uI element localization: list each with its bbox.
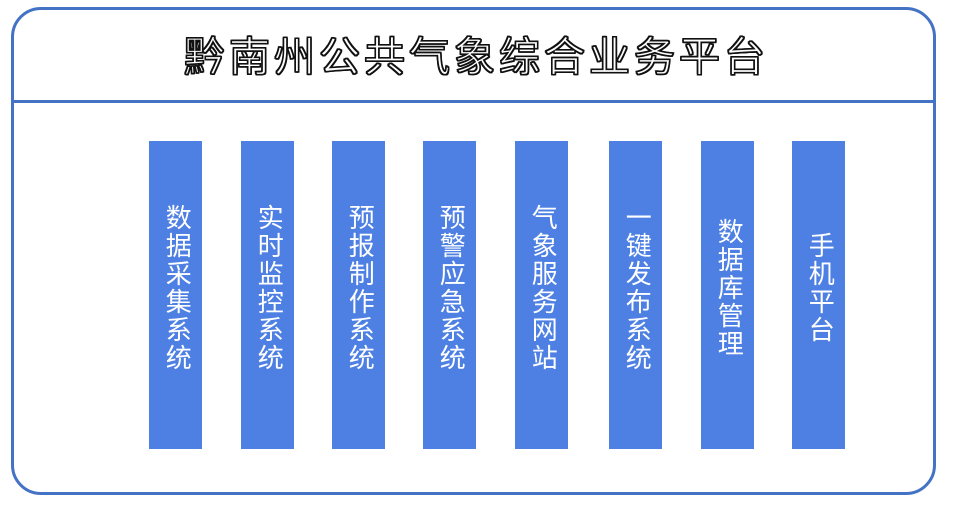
system-column-label: 预报制作系统 (345, 204, 373, 372)
system-column-label: 数据库管理 (714, 218, 742, 358)
system-column-database-management[interactable]: 数据库管理 (701, 141, 754, 449)
system-column-label: 数据采集系统 (162, 204, 190, 372)
diagram-title: 黔南州公共气象综合业务平台 (178, 35, 769, 78)
platform-outer-frame: 黔南州公共气象综合业务平台 数据采集系统 实时监控系统 预报制作系统 预警应急系… (11, 7, 936, 495)
diagram-title-band: 黔南州公共气象综合业务平台 (14, 10, 933, 102)
system-column-label: 气象服务网站 (528, 204, 556, 372)
system-column-label: 手机平台 (805, 232, 833, 344)
system-column-warning-emergency[interactable]: 预警应急系统 (423, 141, 476, 449)
system-column-one-key-release[interactable]: 一键发布系统 (609, 141, 662, 449)
diagram-canvas: 黔南州公共气象综合业务平台 数据采集系统 实时监控系统 预报制作系统 预警应急系… (0, 0, 953, 515)
system-column-weather-service-website[interactable]: 气象服务网站 (515, 141, 568, 449)
system-column-data-collection[interactable]: 数据采集系统 (149, 141, 202, 449)
system-column-mobile-platform[interactable]: 手机平台 (792, 141, 845, 449)
system-column-forecast-production[interactable]: 预报制作系统 (332, 141, 385, 449)
system-column-label: 实时监控系统 (254, 204, 282, 372)
system-column-label: 一键发布系统 (622, 204, 650, 372)
system-column-realtime-monitoring[interactable]: 实时监控系统 (241, 141, 294, 449)
system-columns-container: 数据采集系统 实时监控系统 预报制作系统 预警应急系统 气象服务网站 一键发布系… (14, 102, 933, 492)
system-column-label: 预警应急系统 (436, 204, 464, 372)
